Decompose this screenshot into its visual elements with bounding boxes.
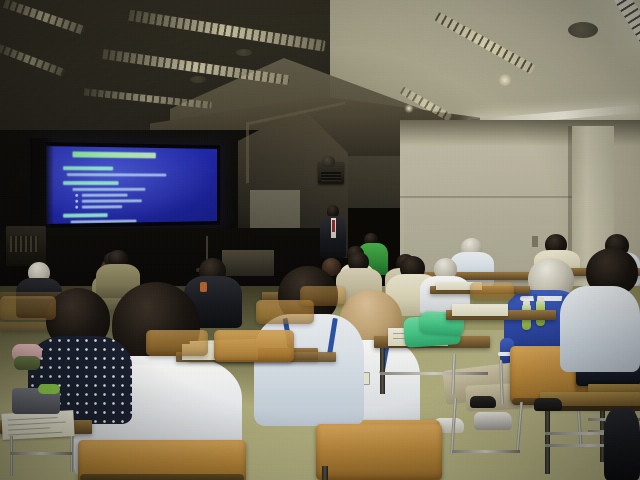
wall-seam	[400, 196, 576, 198]
slide-body-text	[82, 194, 128, 197]
attendee-trousers	[604, 408, 640, 480]
chair	[316, 424, 442, 480]
slide-heading-text	[63, 213, 108, 218]
ceiling-vent-icon	[236, 49, 252, 56]
lectern	[222, 250, 274, 276]
wall-speaker-head-icon	[322, 156, 335, 167]
chair	[146, 330, 208, 356]
paper-text-line	[8, 422, 66, 426]
av-equipment-grille-icon	[10, 236, 38, 252]
chair	[300, 286, 346, 306]
screen-edge-shadow	[30, 138, 54, 238]
desk-leg	[10, 436, 13, 476]
ceiling-vent-icon	[568, 22, 598, 38]
slide-body-text	[82, 199, 142, 202]
slide-title-text	[73, 151, 156, 158]
lecture-hall-photo: blue slide with green heading and light …	[0, 0, 640, 480]
wall-speaker-grille-icon	[321, 172, 341, 181]
pencil-case-strap	[38, 384, 60, 394]
desk-stretcher	[380, 372, 488, 375]
chair-leg	[322, 466, 328, 480]
ceiling-vent-icon	[190, 76, 206, 83]
presenter-necktie	[332, 220, 335, 232]
slide-heading-text	[63, 181, 119, 185]
ceiling-spotlight-icon	[498, 74, 512, 86]
paper-text-line	[8, 427, 50, 430]
projection-screen: blue slide with green heading and light …	[42, 142, 220, 228]
chair	[470, 282, 514, 300]
green-pouch	[14, 356, 40, 370]
slide-heading-text	[63, 166, 113, 170]
chair-seat-edge	[80, 474, 244, 480]
wall-outlet-icon	[532, 236, 538, 247]
desk-leg	[380, 348, 385, 394]
slide-body-text	[73, 188, 146, 191]
attendee-shoe	[534, 398, 562, 411]
slide-body-text	[82, 205, 122, 208]
desk-stretcher	[10, 452, 72, 455]
paper-text-line	[8, 432, 62, 436]
chair	[0, 296, 56, 320]
handout-paper	[452, 304, 508, 316]
ceiling-spotlight-icon	[404, 104, 414, 113]
slide-bullet-icon	[75, 194, 78, 197]
attendee-shoe	[470, 396, 496, 408]
attendee-shirt	[560, 286, 640, 372]
chair	[214, 330, 294, 362]
projection-screen-surface: blue slide with green heading and light …	[46, 146, 217, 224]
slide-bullet-icon	[75, 200, 78, 203]
chair-stretcher	[452, 450, 520, 453]
tea-bottle-cap	[523, 301, 530, 305]
desk-leg	[545, 410, 550, 474]
attendee-sandal	[474, 412, 512, 430]
slide-body-text	[67, 173, 166, 176]
slide-body-text	[71, 220, 137, 224]
paper-text-line	[8, 417, 58, 421]
tea-bottle-cap	[537, 297, 544, 301]
slide-bullet-icon	[75, 206, 78, 209]
attendee-collar-accent	[200, 282, 207, 292]
